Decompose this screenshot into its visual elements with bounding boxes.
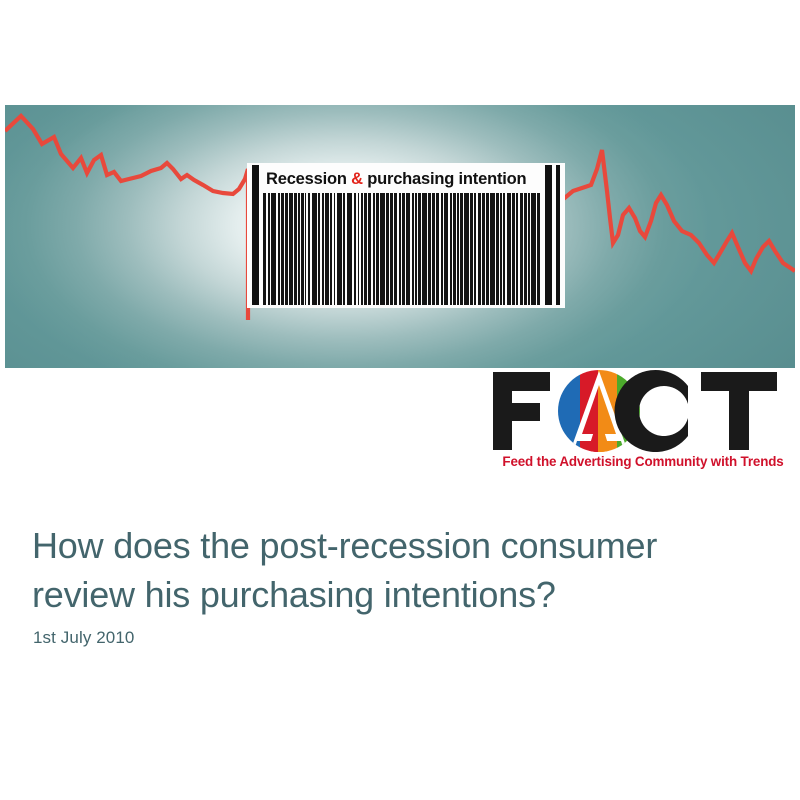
barcode-bar [289, 193, 293, 305]
barcode-bar [305, 193, 307, 305]
barcode-bar [450, 193, 452, 305]
barcode-bar [312, 193, 317, 305]
barcode-bar [268, 193, 270, 305]
barcode-bar [380, 193, 385, 305]
barcode-bar [361, 193, 363, 305]
barcode-bar [503, 193, 505, 305]
barcode-bar [358, 193, 360, 305]
barcode-bar [500, 193, 502, 305]
barcode-bar [478, 193, 481, 305]
barcode-bar [524, 193, 526, 305]
barcode-bars [247, 193, 565, 305]
barcode-bar [373, 193, 375, 305]
barcode-bar [441, 193, 443, 305]
barcode-bar [330, 193, 332, 305]
barcode-bar [406, 193, 410, 305]
title-slide: Recession & purchasing intention [0, 0, 800, 800]
barcode-bar [474, 193, 476, 305]
barcode-caption: Recession & purchasing intention [266, 166, 526, 192]
barcode-bar [537, 193, 539, 305]
barcode-bar [318, 193, 320, 305]
barcode-bar [432, 193, 434, 305]
barcode-guard-bar-left [252, 165, 259, 305]
barcode-bar [418, 193, 420, 305]
barcode-guard-bar-right-outer [556, 165, 560, 305]
barcode-bar [301, 193, 303, 305]
barcode-bar [386, 193, 388, 305]
barcode-bar [337, 193, 342, 305]
trend-line-right [554, 150, 795, 271]
page-title: How does the post-recession consumer rev… [32, 521, 762, 619]
logo-letter-t [701, 372, 777, 450]
barcode-bar [496, 193, 498, 305]
barcode-bar [464, 193, 469, 305]
barcode-bar [364, 193, 366, 305]
barcode-bar [281, 193, 283, 305]
hero-banner-image: Recession & purchasing intention [5, 105, 795, 368]
barcode-bar [394, 193, 397, 305]
barcode-bar [368, 193, 371, 305]
barcode-bar [308, 193, 310, 305]
barcode-bar [520, 193, 523, 305]
presentation-date: 1st July 2010 [33, 628, 134, 648]
barcode-bar [278, 193, 280, 305]
barcode-bar [285, 193, 287, 305]
trend-line-left [5, 116, 248, 194]
logo-letter-f [493, 372, 550, 450]
barcode-bar [512, 193, 514, 305]
barcode-bar [271, 193, 276, 305]
page-title-line-1: How does the post-recession consumer [32, 521, 762, 570]
barcode-bar [453, 193, 455, 305]
barcode-bar [263, 193, 266, 305]
barcode-bar [507, 193, 511, 305]
barcode-bar [490, 193, 495, 305]
barcode-bar [415, 193, 417, 305]
barcode-caption-part1: Recession [266, 170, 351, 188]
barcode-bar [334, 193, 336, 305]
fact-logo: Feed the Advertising Community with Tren… [489, 368, 795, 480]
barcode-bar [422, 193, 427, 305]
barcode-bar [347, 193, 353, 305]
barcode-bar [528, 193, 530, 305]
barcode-bar [460, 193, 462, 305]
barcode-caption-ampersand: & [351, 170, 363, 188]
barcode-graphic: Recession & purchasing intention [247, 163, 565, 308]
page-title-line-2: review his purchasing intentions? [32, 570, 762, 619]
barcode-bar [412, 193, 414, 305]
barcode-bar [298, 193, 300, 305]
barcode-bar [343, 193, 345, 305]
barcode-bar [354, 193, 356, 305]
barcode-bar [402, 193, 404, 305]
barcode-bar [482, 193, 484, 305]
barcode-bar [486, 193, 488, 305]
barcode-bar [325, 193, 328, 305]
barcode-bar [457, 193, 459, 305]
barcode-bar [390, 193, 392, 305]
barcode-bar [294, 193, 296, 305]
barcode-guard-bar-right [545, 165, 552, 305]
barcode-caption-part2: purchasing intention [363, 170, 527, 188]
barcode-bar [470, 193, 472, 305]
barcode-bar [376, 193, 378, 305]
barcode-bar [436, 193, 439, 305]
barcode-bar [516, 193, 518, 305]
fact-logo-mark [489, 368, 795, 454]
barcode-bar [399, 193, 401, 305]
fact-logo-tagline: Feed the Advertising Community with Tren… [491, 454, 795, 469]
barcode-bar [322, 193, 324, 305]
barcode-bar [428, 193, 430, 305]
barcode-bar [531, 193, 536, 305]
barcode-bar [444, 193, 448, 305]
